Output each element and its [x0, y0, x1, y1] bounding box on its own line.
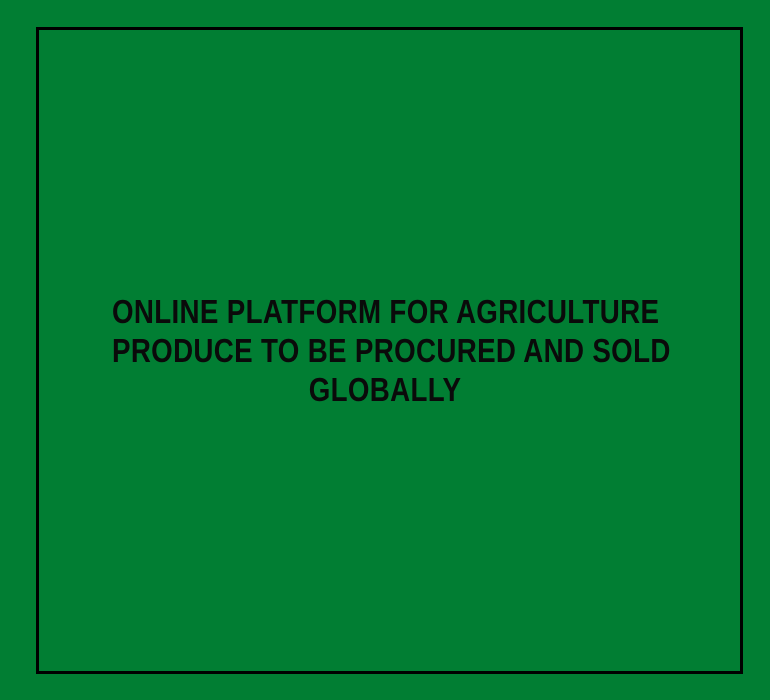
slide-canvas: ONLINE PLATFORM FOR AGRICULTURE PRODUCE …: [0, 0, 770, 700]
headline-block: ONLINE PLATFORM FOR AGRICULTURE PRODUCE …: [0, 0, 770, 700]
headline-line-3: GLOBALLY: [112, 370, 658, 409]
headline-line-2: PRODUCE TO BE PROCURED AND SOLD: [112, 331, 658, 370]
headline-line-1: ONLINE PLATFORM FOR AGRICULTURE: [112, 292, 658, 331]
